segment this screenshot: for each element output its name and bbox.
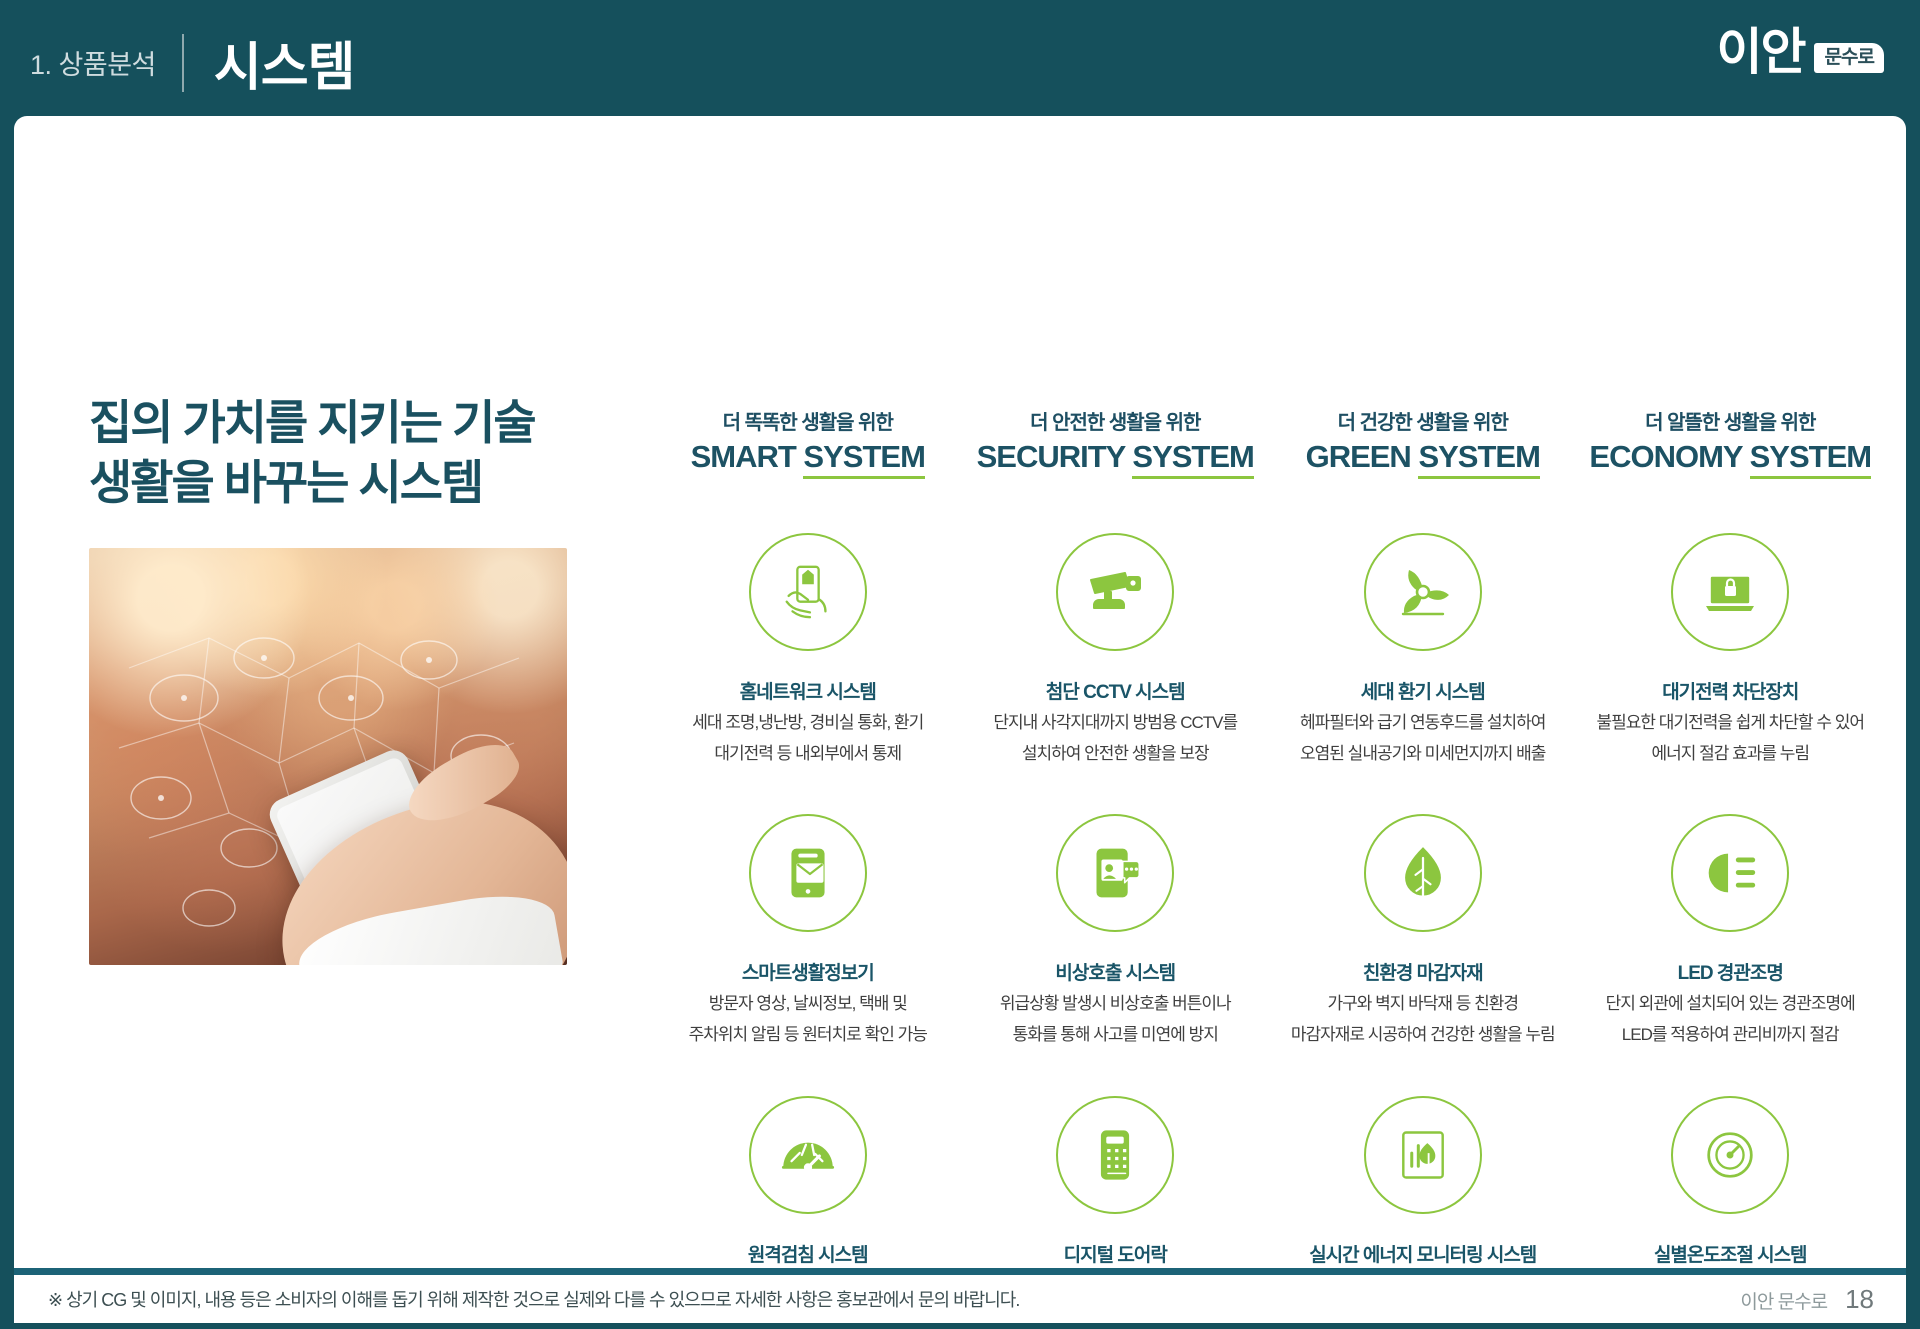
brand-badge: 문수로 <box>1814 43 1884 73</box>
column-title-prefix: SMART <box>691 439 804 474</box>
header-section-label: 1. 상품분석 <box>30 43 156 86</box>
column-title-underlined: SYSTEM <box>803 439 924 479</box>
footer-accent-bar <box>14 1268 1906 1275</box>
system-desc-line2: 통화를 통해 사고를 미연에 방지 <box>970 1023 1262 1047</box>
system-card[interactable]: 비상호출 시스템 위급상황 발생시 비상호출 버튼이나 통화를 통해 사고를 미… <box>962 766 1270 1047</box>
system-desc-line1: 단지내 사각지대까지 방범용 CCTV를 <box>970 711 1262 735</box>
system-title: 원격검침 시스템 <box>662 1240 954 1267</box>
system-desc-line1: 방문자 영상, 날씨정보, 택배 및 <box>662 992 954 1016</box>
system-title: 스마트생활정보기 <box>662 958 954 985</box>
system-title: 대기전력 차단장치 <box>1585 677 1877 704</box>
system-desc-line1: 불필요한 대기전력을 쉽게 차단할 수 있어 <box>1585 711 1877 735</box>
system-desc-line2: 주차위치 알림 등 원터치로 확인 가능 <box>662 1023 954 1047</box>
page-title: 시스템 <box>214 25 355 104</box>
system-desc-line2: LED를 적용하여 관리비까지 절감 <box>1585 1023 1877 1047</box>
system-card[interactable]: 첨단 CCTV 시스템 단지내 사각지대까지 방범용 CCTV를 설치하여 안전… <box>962 485 1270 766</box>
column-head-smart: 더 똑똑한 생활을 위한 SMART SYSTEM <box>654 406 962 485</box>
system-desc-line2: 오염된 실내공기와 미세먼지까지 배출 <box>1277 742 1569 766</box>
system-desc-line1: 가구와 벽지 바닥재 등 친환경 <box>1277 992 1569 1016</box>
system-desc-line1: 세대 조명,냉난방, 경비실 통화, 환기 <box>662 711 954 735</box>
column-head-green: 더 건강한 생활을 위한 GREEN SYSTEM <box>1269 406 1577 485</box>
energy-monitoring-icon <box>1364 1096 1482 1214</box>
footer-brand: 이안 문수로 <box>1740 1287 1827 1314</box>
emergency-call-icon <box>1056 814 1174 932</box>
column-title-prefix: GREEN <box>1306 439 1419 474</box>
column-head-security: 더 안전한 생활을 위한 SECURITY SYSTEM <box>962 406 1270 485</box>
left-intro-block: 집의 가치를 지키는 기술 생활을 바꾸는 시스템 <box>89 393 609 965</box>
system-desc-line2: 대기전력 등 내외부에서 통제 <box>662 742 954 766</box>
column-title-prefix: SECURITY <box>977 439 1133 474</box>
cctv-camera-icon <box>1056 533 1174 651</box>
room-temperature-control-icon <box>1671 1096 1789 1214</box>
footer-disclaimer: ※ 상기 CG 및 이미지, 내용 등은 소비자의 이해를 돕기 위해 제작한 … <box>48 1286 1019 1312</box>
column-kicker: 더 안전한 생활을 위한 <box>962 406 1270 435</box>
page-number: 18 <box>1845 1284 1874 1315</box>
column-title-underlined: SYSTEM <box>1418 439 1539 479</box>
lead-title-line2: 생활을 바꾸는 시스템 <box>89 453 609 513</box>
column-title-underlined: SYSTEM <box>1132 439 1253 479</box>
system-title: 친환경 마감자재 <box>1277 958 1569 985</box>
smart-living-info-icon <box>749 814 867 932</box>
system-card[interactable]: 세대 환기 시스템 헤파필터와 급기 연동후드를 설치하여 오염된 실내공기와 … <box>1269 485 1577 766</box>
column-title-underlined: SYSTEM <box>1750 439 1871 479</box>
column-head-economy: 더 알뜰한 생활을 위한 ECONOMY SYSTEM <box>1577 406 1885 485</box>
system-title: 첨단 CCTV 시스템 <box>970 677 1262 704</box>
slide-footer: ※ 상기 CG 및 이미지, 내용 등은 소비자의 이해를 돕기 위해 제작한 … <box>0 1268 1920 1329</box>
system-title: 실시간 에너지 모니터링 시스템 <box>1277 1240 1569 1267</box>
hero-photo <box>89 548 567 965</box>
slide: 1. 상품분석 시스템 이안 문수로 집의 가치를 지키는 기술 생활을 바꾸는… <box>0 0 1920 1329</box>
digital-doorlock-icon <box>1056 1096 1174 1214</box>
system-title: LED 경관조명 <box>1585 958 1877 985</box>
system-desc-line2: 에너지 절감 효과를 누림 <box>1585 742 1877 766</box>
column-title-prefix: ECONOMY <box>1589 439 1749 474</box>
system-desc-line1: 헤파필터와 급기 연동후드를 설치하여 <box>1277 711 1569 735</box>
slide-canvas: 집의 가치를 지키는 기술 생활을 바꾸는 시스템 <box>14 116 1906 1268</box>
system-card[interactable]: 친환경 마감자재 가구와 벽지 바닥재 등 친환경 마감자재로 시공하여 건강한… <box>1269 766 1577 1047</box>
column-kicker: 더 건강한 생활을 위한 <box>1269 406 1577 435</box>
eco-leaf-icon <box>1364 814 1482 932</box>
column-kicker: 더 똑똑한 생활을 위한 <box>654 406 962 435</box>
brand-logo: 이안 문수로 <box>1717 27 1884 77</box>
system-title: 실별온도조절 시스템 <box>1585 1240 1877 1267</box>
systems-grid: 더 똑똑한 생활을 위한 SMART SYSTEM 더 안전한 생활을 위한 S… <box>654 406 1884 1329</box>
system-card[interactable]: 대기전력 차단장치 불필요한 대기전력을 쉽게 차단할 수 있어 에너지 절감 … <box>1577 485 1885 766</box>
system-card[interactable]: 홈네트워크 시스템 세대 조명,냉난방, 경비실 통화, 환기 대기전력 등 내… <box>654 485 962 766</box>
ventilation-fan-icon <box>1364 533 1482 651</box>
system-title: 세대 환기 시스템 <box>1277 677 1569 704</box>
smart-home-hand-icon <box>749 533 867 651</box>
system-card[interactable]: 스마트생활정보기 방문자 영상, 날씨정보, 택배 및 주차위치 알림 등 원터… <box>654 766 962 1047</box>
column-kicker: 더 알뜰한 생활을 위한 <box>1577 406 1885 435</box>
led-landscape-light-icon <box>1671 814 1789 932</box>
lead-title-line1: 집의 가치를 지키는 기술 <box>89 393 609 453</box>
system-desc-line1: 위급상황 발생시 비상호출 버튼이나 <box>970 992 1262 1016</box>
header-divider <box>182 34 184 92</box>
system-title: 홈네트워크 시스템 <box>662 677 954 704</box>
slide-header: 1. 상품분석 시스템 이안 문수로 <box>0 0 1920 128</box>
system-desc-line1: 단지 외관에 설치되어 있는 경관조명에 <box>1585 992 1877 1016</box>
system-title: 디지털 도어락 <box>970 1240 1262 1267</box>
system-card[interactable]: LED 경관조명 단지 외관에 설치되어 있는 경관조명에 LED를 적용하여 … <box>1577 766 1885 1047</box>
system-title: 비상호출 시스템 <box>970 958 1262 985</box>
remote-meter-gauge-icon <box>749 1096 867 1214</box>
standby-power-cutoff-icon <box>1671 533 1789 651</box>
brand-name: 이안 <box>1717 27 1805 77</box>
system-desc-line2: 설치하여 안전한 생활을 보장 <box>970 742 1262 766</box>
system-desc-line2: 마감자재로 시공하여 건강한 생활을 누림 <box>1277 1023 1569 1047</box>
